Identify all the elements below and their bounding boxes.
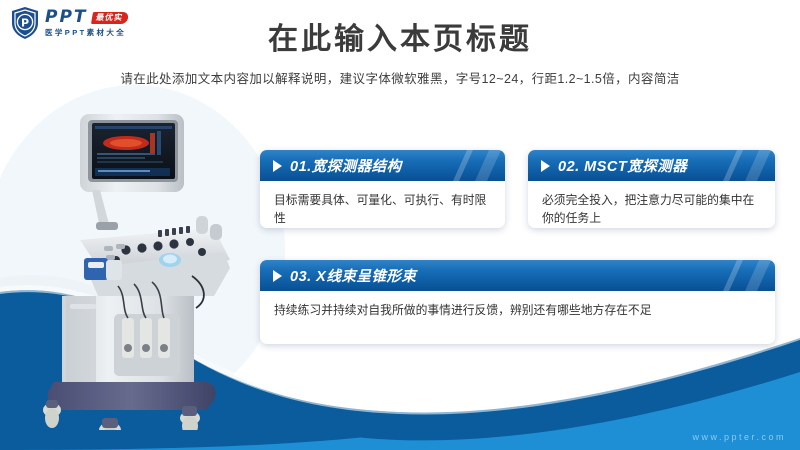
card-3-header: 03. X线束呈锥形束 (260, 260, 775, 291)
card-2-title: 02. MSCT宽探测器 (558, 155, 687, 176)
card-3-body: 持续练习并持续对自我所做的事情进行反馈，辨别还有哪些地方存在不足 (260, 291, 775, 331)
card-1-title: 01.宽探测器结构 (290, 155, 402, 176)
ultrasound-machine-image (18, 100, 258, 430)
logo-badge: 最优实 (90, 12, 128, 24)
play-triangle-icon (541, 160, 550, 172)
content-card-2[interactable]: 02. MSCT宽探测器 必须完全投入，把注意力尽可能的集中在你的任务上 (528, 150, 775, 228)
play-triangle-icon (273, 270, 282, 282)
logo-wordmark: PPT (45, 9, 88, 26)
logo-tagline: 医学PPT素材大全 (45, 29, 128, 37)
diagonal-stripes-decoration (713, 150, 775, 181)
content-card-3[interactable]: 03. X线束呈锥形束 持续练习并持续对自我所做的事情进行反馈，辨别还有哪些地方… (260, 260, 775, 344)
svg-text:P: P (21, 16, 29, 29)
shield-p-icon: P (10, 6, 40, 40)
play-triangle-icon (273, 160, 282, 172)
diagonal-stripes-decoration (443, 150, 505, 181)
card-2-body: 必须完全投入，把注意力尽可能的集中在你的任务上 (528, 181, 775, 228)
card-1-header: 01.宽探测器结构 (260, 150, 505, 181)
brand-logo[interactable]: P PPT 最优实 医学PPT素材大全 (10, 6, 128, 40)
diagonal-stripes-decoration (713, 260, 775, 291)
card-2-header: 02. MSCT宽探测器 (528, 150, 775, 181)
card-1-body: 目标需要具体、可量化、可执行、有时限性 (260, 181, 505, 228)
card-3-title: 03. X线束呈锥形束 (290, 265, 416, 286)
slide-canvas: P PPT 最优实 医学PPT素材大全 在此输入本页标题 请在此处添加文本内容加… (0, 0, 800, 450)
page-subtitle: 请在此处添加文本内容加以解释说明，建议字体微软雅黑，字号12~24，行距1.2~… (0, 68, 800, 87)
site-watermark: www.ppter.com (692, 432, 786, 442)
content-card-1[interactable]: 01.宽探测器结构 目标需要具体、可量化、可执行、有时限性 (260, 150, 505, 228)
